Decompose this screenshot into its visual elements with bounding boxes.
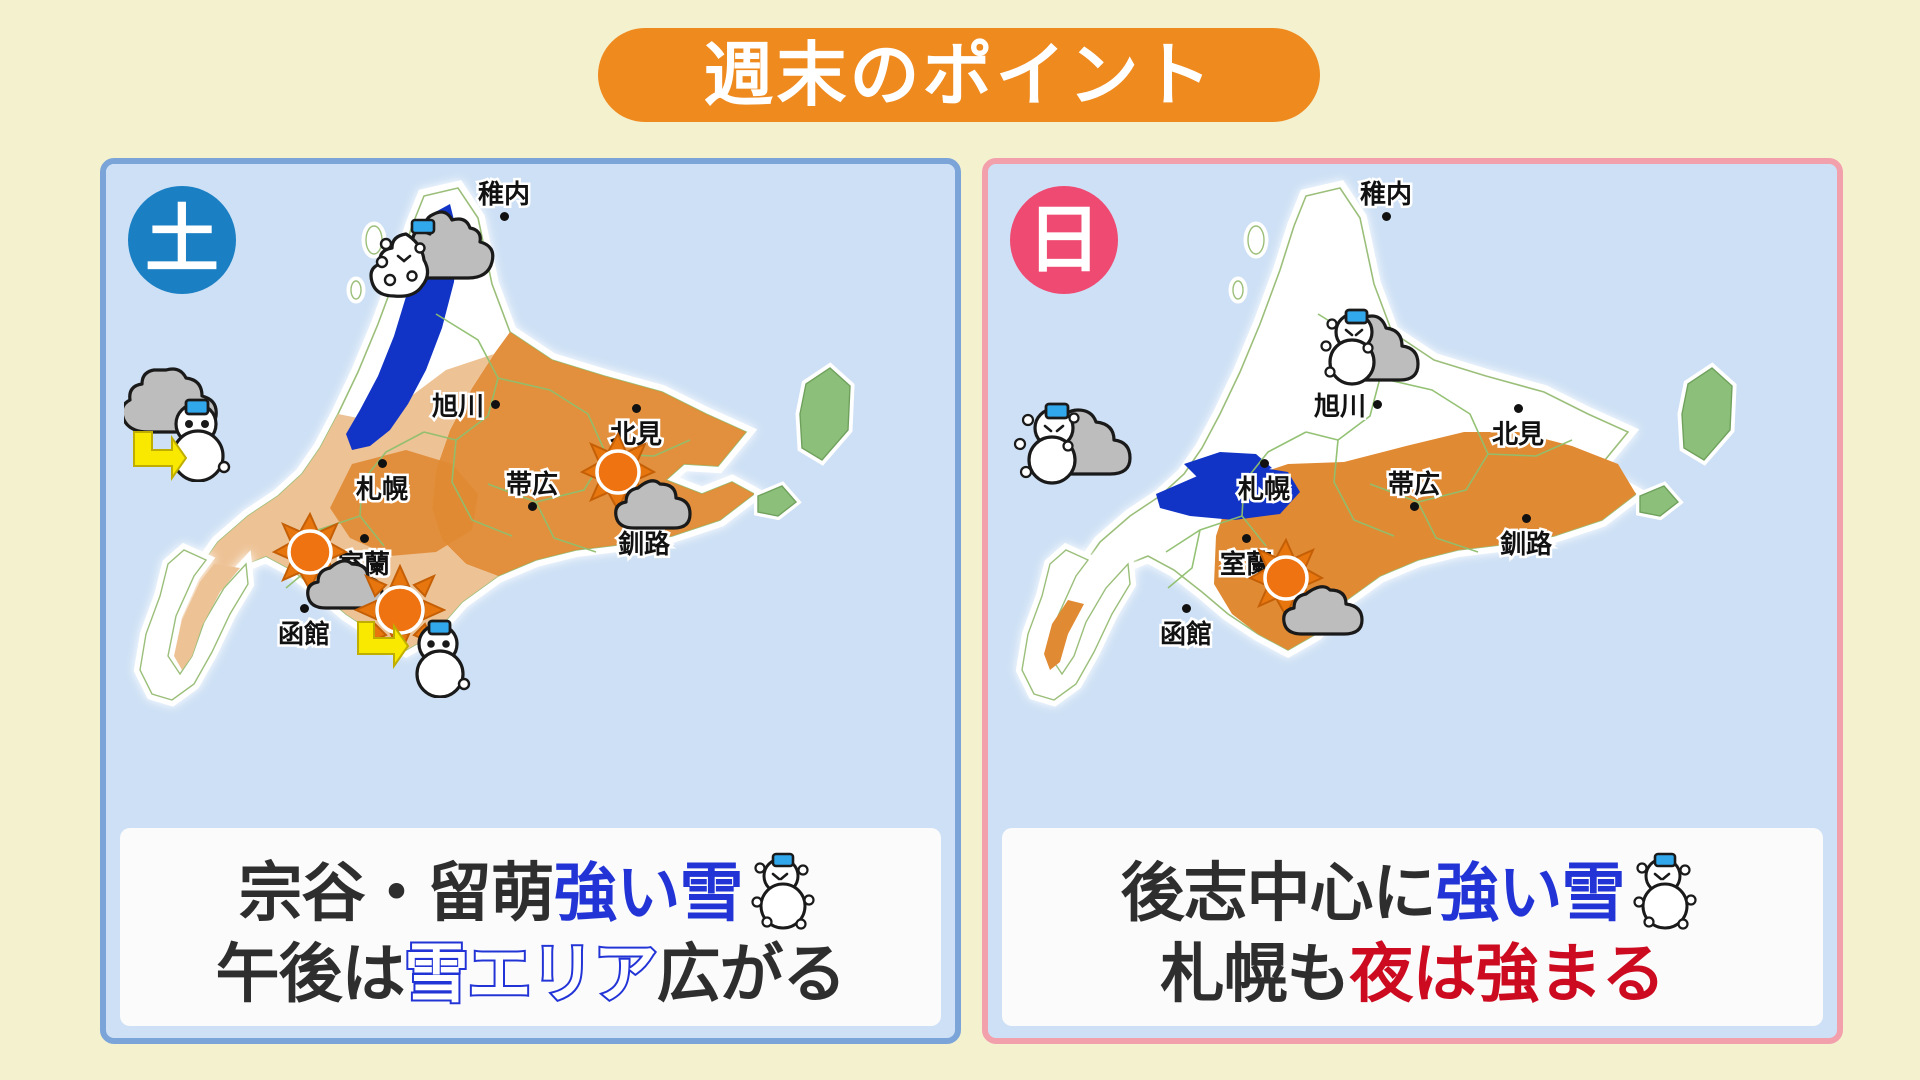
city-dot-icon: [378, 459, 387, 468]
city-label-obihiro: 帯広: [506, 464, 558, 511]
city-label-wakkanai: 稚内: [1360, 174, 1412, 221]
city-label-obihiro: 帯広: [1388, 464, 1440, 511]
forecast-panel-saturday[interactable]: 土 稚内 旭川 北見 札幌 帯広 釧路 室蘭: [100, 158, 961, 1044]
weather-icon-sun-cloud: [580, 432, 700, 537]
city-label-hakodate: 函館: [1160, 604, 1212, 651]
weather-icon-snow-heavy-cloud: [364, 204, 504, 329]
weather-icon-snow-heavy-cloud: [1006, 384, 1156, 509]
city-dot-icon: [528, 502, 537, 511]
weather-forecast-screen: 週末のポイント: [0, 0, 1920, 1080]
city-dot-icon: [491, 400, 500, 409]
city-dot-icon: [1522, 514, 1531, 523]
city-dot-icon: [632, 404, 641, 413]
forecast-panel-sunday[interactable]: 日 稚内 旭川 北見 札幌 帯広 釧路 室蘭: [982, 158, 1843, 1044]
page-title-banner: 週末のポイント: [598, 28, 1320, 122]
caption-line-2: 午後は 雪エリア 広がる: [216, 943, 846, 1008]
day-badge-sunday: 日: [1010, 186, 1118, 294]
city-dot-icon: [1382, 212, 1391, 221]
caption-line-1: 後志中心に 強い雪: [1121, 846, 1705, 942]
city-dot-icon: [1260, 459, 1269, 468]
city-dot-icon: [1182, 604, 1191, 613]
arrow-right-icon: [128, 428, 190, 489]
city-dot-icon: [1514, 404, 1523, 413]
caption-line-1: 宗谷・留萌 強い雪: [239, 846, 823, 942]
city-dot-icon: [1410, 502, 1419, 511]
weather-icon-cloud-snowman: [1310, 290, 1440, 405]
day-badge-saturday: 土: [128, 186, 236, 294]
city-label-sapporo: 札幌: [356, 459, 408, 506]
page-title: 週末のポイント: [704, 40, 1215, 110]
city-label-asahikawa: 旭川: [432, 386, 500, 423]
weather-icon-arrow-snowman: [352, 608, 492, 703]
city-label-kushiro: 釧路: [1500, 514, 1552, 561]
snowman-icon: [1627, 846, 1705, 942]
city-label-sapporo: 札幌: [1238, 459, 1290, 506]
caption-box-saturday: 宗谷・留萌 強い雪: [120, 828, 941, 1026]
caption-line-2: 札幌も 夜は強まる: [1161, 943, 1665, 1008]
snowman-icon: [745, 846, 823, 942]
city-label-kitami: 北見: [1492, 404, 1544, 451]
weather-icon-sun-cloud: [1244, 536, 1374, 651]
caption-box-sunday: 後志中心に 強い雪: [1002, 828, 1823, 1026]
